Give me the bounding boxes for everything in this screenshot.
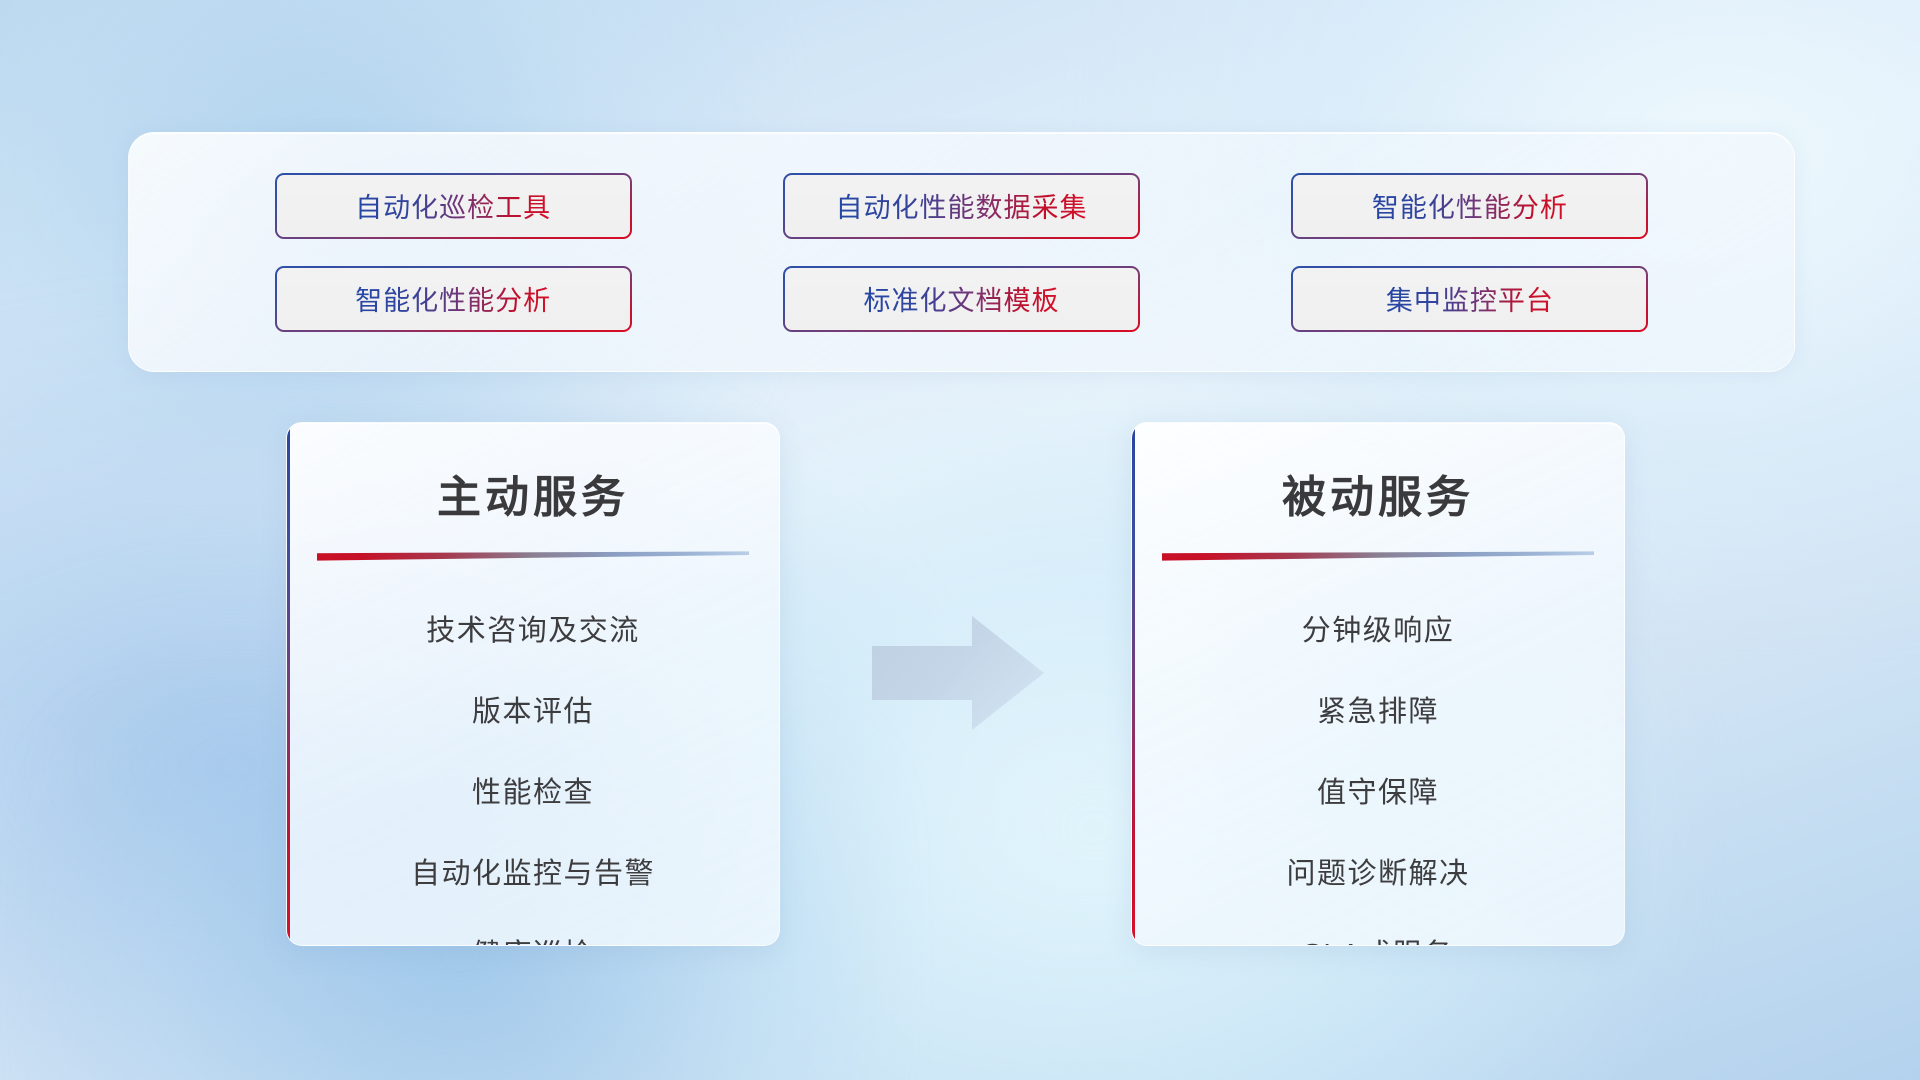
capability-chip[interactable]: 智能化性能分析 (275, 266, 632, 332)
capability-chip-label: 智能化性能分析 (355, 279, 551, 318)
service-card-divider (317, 551, 749, 563)
slide-canvas: 自动化巡检工具 自动化性能数据采集 智能化性能分析 智能化性能分析 标准化文档模… (0, 0, 1920, 1080)
service-card-item-list: 技术咨询及交流 版本评估 性能检查 自动化监控与告警 健康巡检 (311, 607, 755, 946)
service-list-item: 问题诊断解决 (1156, 850, 1600, 892)
capability-chip-label: 自动化性能数据采集 (835, 186, 1087, 225)
capability-chip-label: 智能化性能分析 (1372, 186, 1568, 225)
capability-chip-label: 标准化文档模板 (863, 279, 1059, 318)
service-list-item: 值守保障 (1156, 769, 1600, 811)
capability-chip[interactable]: 自动化巡检工具 (275, 173, 632, 239)
capability-chip[interactable]: 标准化文档模板 (783, 266, 1140, 332)
capability-chip[interactable]: 集中监控平台 (1291, 266, 1648, 332)
service-card-title: 被动服务 (1156, 461, 1600, 525)
service-list-item: 技术咨询及交流 (311, 607, 755, 649)
capability-chip-label: 集中监控平台 (1386, 279, 1554, 318)
service-list-item: 性能检查 (311, 769, 755, 811)
service-list-item: SLA式服务 (1156, 931, 1600, 946)
capabilities-panel: 自动化巡检工具 自动化性能数据采集 智能化性能分析 智能化性能分析 标准化文档模… (128, 132, 1795, 372)
service-list-item: 版本评估 (311, 688, 755, 730)
service-card-item-list: 分钟级响应 紧急排障 值守保障 问题诊断解决 SLA式服务 (1156, 607, 1600, 946)
service-list-item: 自动化监控与告警 (311, 850, 755, 892)
service-list-item: 紧急排障 (1156, 688, 1600, 730)
capability-chip[interactable]: 智能化性能分析 (1291, 173, 1648, 239)
service-card-divider (1162, 551, 1594, 563)
capability-chip[interactable]: 自动化性能数据采集 (783, 173, 1140, 239)
capability-chip-label: 自动化巡检工具 (355, 186, 551, 225)
service-card-title: 主动服务 (311, 461, 755, 525)
service-card-reactive: 被动服务 分钟级响应 紧急排障 (1131, 422, 1625, 946)
service-card-proactive: 主动服务 技术咨询及交流 版本评估 (286, 422, 780, 946)
service-list-item: 分钟级响应 (1156, 607, 1600, 649)
service-list-item: 健康巡检 (311, 931, 755, 946)
arrow-right-icon (872, 612, 1044, 734)
